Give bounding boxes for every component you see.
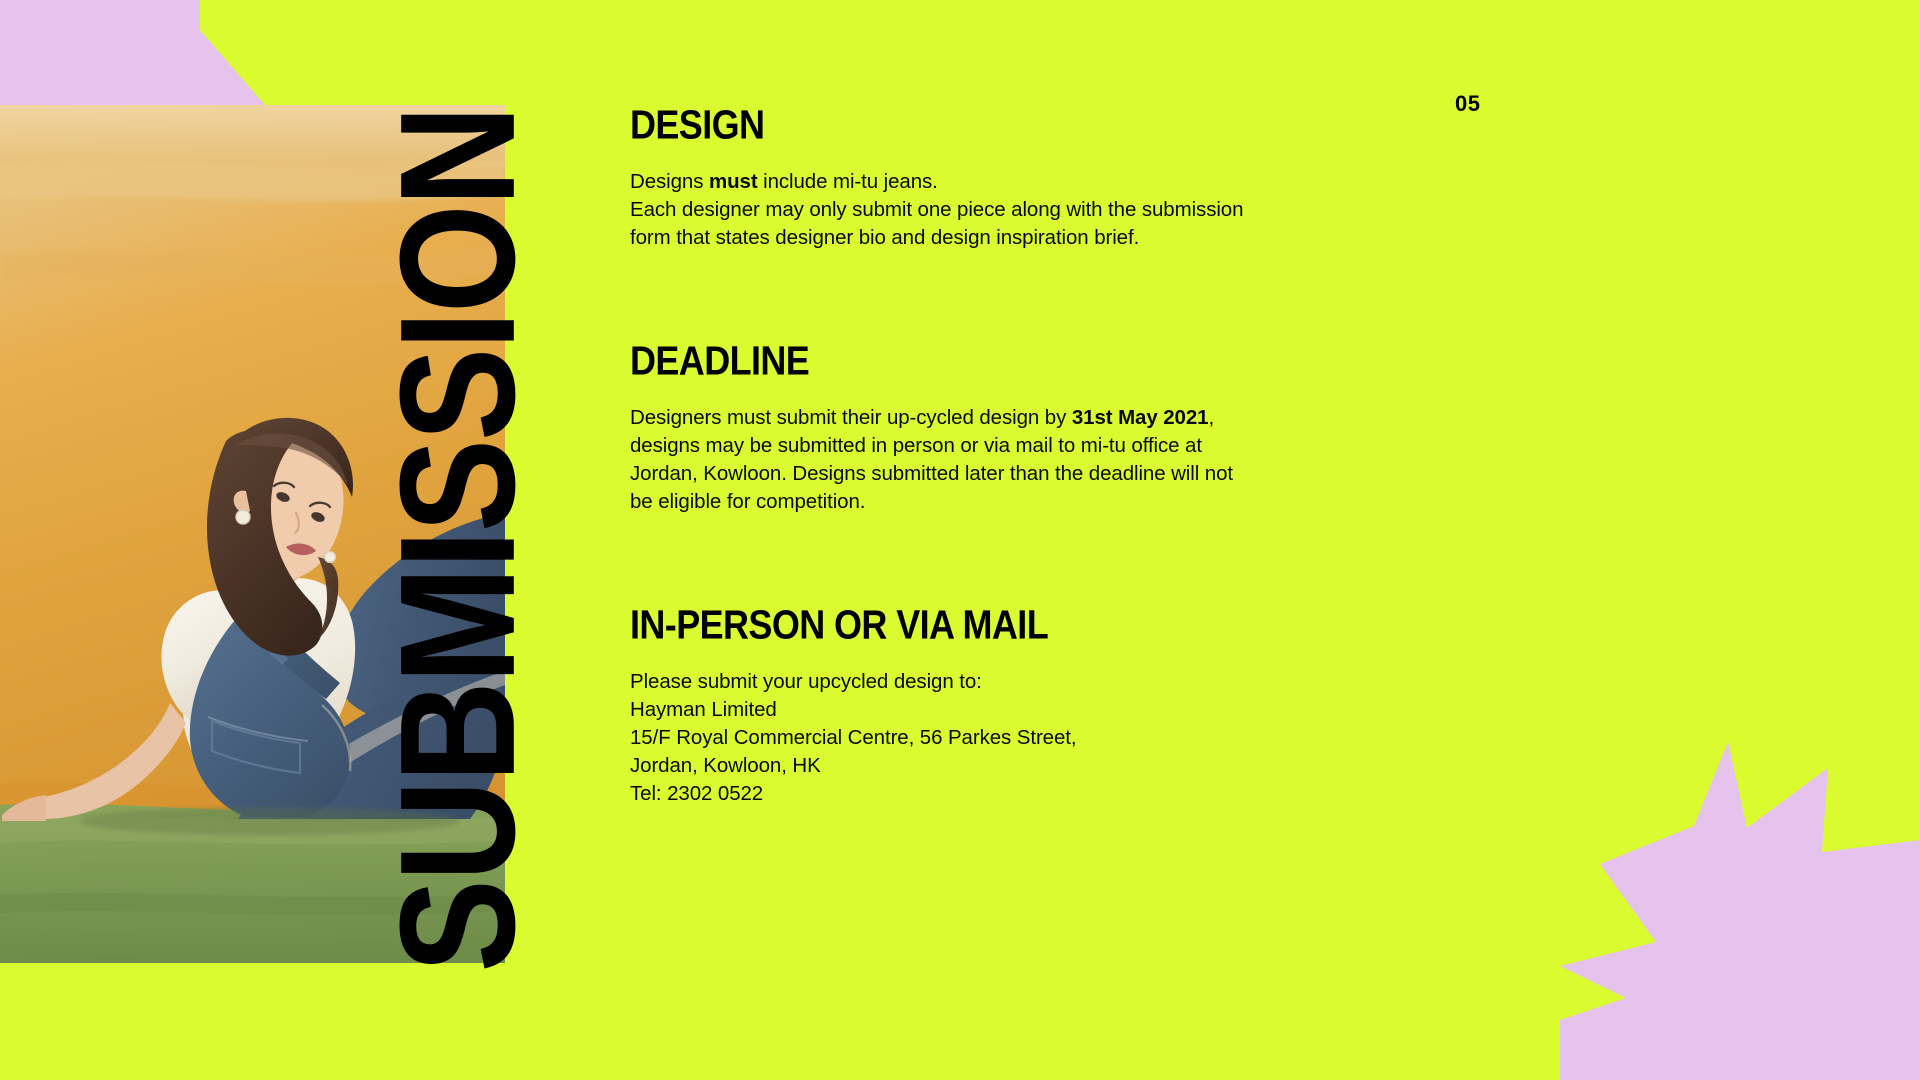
design-line1-a: Designs [630,170,709,193]
paragraph-address: Please submit your upcycled design to: H… [630,668,1320,808]
design-line1-c: include mi-tu jeans. [758,170,938,193]
address-line-company: Hayman Limited [630,696,1320,724]
design-line2: Each designer may only submit one piece … [630,198,1243,221]
section-design: DESIGN Designs must include mi-tu jeans.… [630,104,1320,252]
design-line3: form that states designer bio and design… [630,226,1139,249]
deadline-line2: designs may be submitted in person or vi… [630,434,1202,457]
address-line-tel: Tel: 2302 0522 [630,780,1320,808]
paragraph-deadline: Designers must submit their up-cycled de… [630,404,1320,516]
address-line-street: 15/F Royal Commercial Centre, 56 Parkes … [630,724,1320,752]
paragraph-design: Designs must include mi-tu jeans. Each d… [630,168,1320,252]
heading-design: DESIGN [630,104,1320,146]
deadline-line4: be eligible for competition. [630,490,865,513]
model-photo [0,105,505,963]
deadline-line1-a: Designers must submit their up-cycled de… [630,406,1072,429]
heading-in-person: IN-PERSON OR VIA MAIL [630,604,1320,646]
deadline-date-emphasis: 31st May 2021 [1072,406,1209,429]
deadline-line3: Jordan, Kowloon. Designs submitted later… [630,462,1233,485]
design-line1-emphasis: must [709,170,758,193]
section-deadline: DEADLINE Designers must submit their up-… [630,340,1320,516]
lavender-starburst-decoration [1560,720,1920,1080]
address-line-intro: Please submit your upcycled design to: [630,668,1320,696]
address-line-district: Jordan, Kowloon, HK [630,752,1320,780]
heading-deadline: DEADLINE [630,340,1320,382]
model-photo-illustration [0,105,505,963]
page-number: 05 [1455,91,1480,117]
deadline-line1-c: , [1208,406,1214,429]
slide-canvas: SUBMISSION #UPCYCLEMI DESIGN COMPETITION… [0,0,1920,1080]
green-wedge-decoration [200,0,350,105]
content-column: DESIGN Designs must include mi-tu jeans.… [630,104,1320,808]
section-in-person: IN-PERSON OR VIA MAIL Please submit your… [630,604,1320,808]
